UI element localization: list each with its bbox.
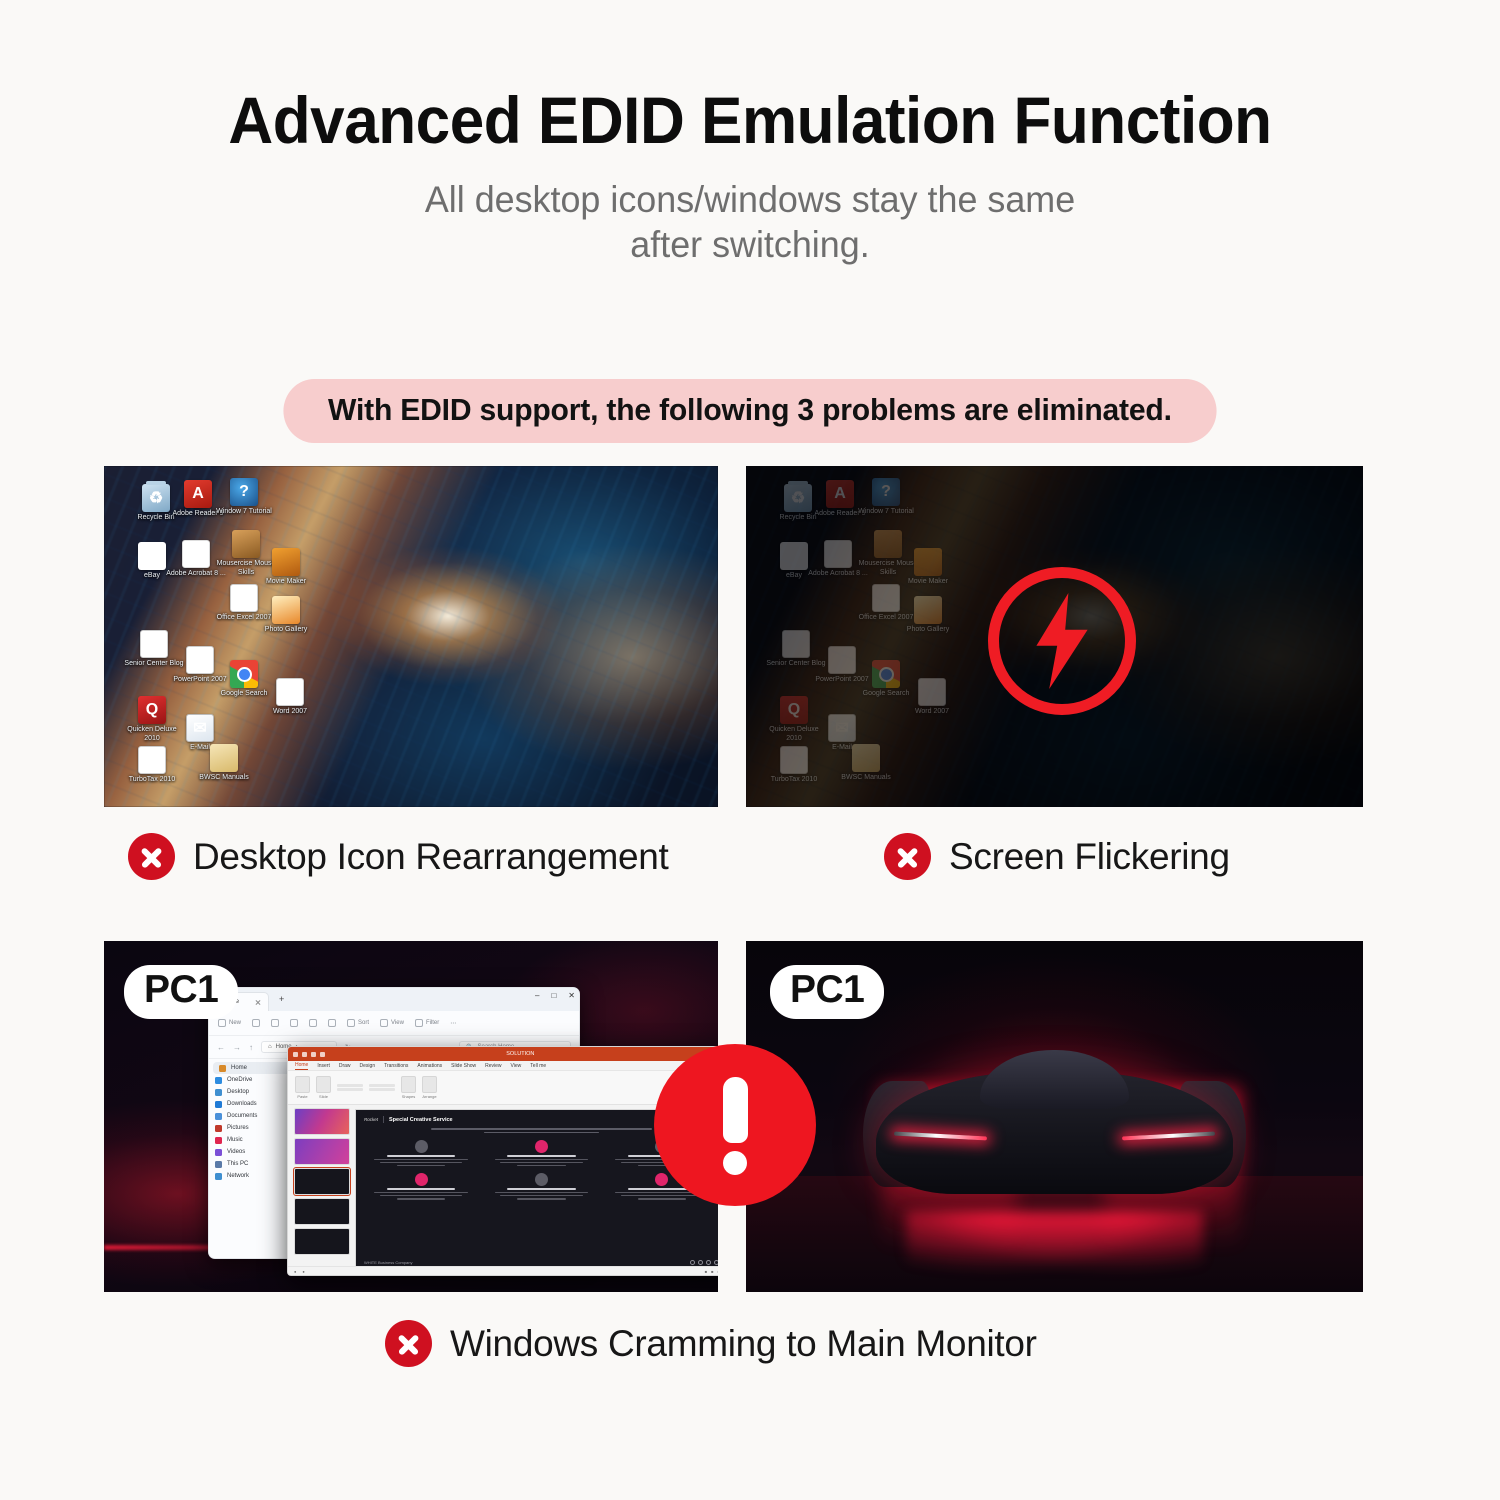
caption-screen-flickering: Screen Flickering bbox=[884, 833, 1230, 880]
page-subtitle: All desktop icons/windows stay the same … bbox=[23, 177, 1478, 267]
delete-icon[interactable] bbox=[328, 1019, 336, 1027]
banner-row: With EDID support, the following 3 probl… bbox=[0, 379, 1500, 443]
ppt-tab-draw[interactable]: Draw bbox=[339, 1063, 351, 1069]
desktop-icon[interactable]: ?Window 7 Tutorial bbox=[214, 478, 274, 517]
ebay-icon: eb bbox=[138, 542, 166, 570]
x-circle-icon bbox=[884, 833, 931, 880]
adobe-acrobat-icon: A bbox=[824, 540, 852, 568]
forward-icon[interactable]: → bbox=[233, 1043, 241, 1052]
pc1-badge: PC1 bbox=[770, 965, 884, 1019]
new-tab-button[interactable]: + bbox=[279, 994, 284, 1006]
twitter-icon bbox=[698, 1260, 703, 1265]
folder-icon bbox=[215, 1137, 222, 1144]
feature-text bbox=[397, 1198, 445, 1199]
folder-icon bbox=[215, 1101, 222, 1108]
help-icon: ? bbox=[230, 478, 258, 506]
filter-icon bbox=[415, 1019, 423, 1027]
desktop-icon[interactable]: Movie Maker bbox=[256, 548, 316, 587]
caption-label: Desktop Icon Rearrangement bbox=[193, 836, 669, 878]
ribbon-label: Slide bbox=[319, 1094, 328, 1099]
desktop-icon[interactable]: Photo Gallery bbox=[898, 596, 958, 635]
panel-windows-cramming: PC1 Home + – □ ✕ New bbox=[104, 941, 718, 1292]
mail-icon: ✉ bbox=[828, 714, 856, 742]
paragraph-row bbox=[369, 1084, 395, 1087]
slide-footer: WHITE Business Company bbox=[364, 1260, 412, 1265]
desktop-icon[interactable]: ?Window 7 Tutorial bbox=[856, 478, 916, 517]
movie-maker-icon bbox=[272, 548, 300, 576]
desktop-icon[interactable]: ✔TurboTax 2010 bbox=[122, 746, 182, 785]
ppt-ribbon-tabs: HomeInsertDrawDesignTransitionsAnimation… bbox=[288, 1061, 718, 1071]
feature-text bbox=[500, 1162, 582, 1163]
shapes-icon bbox=[401, 1076, 416, 1093]
close-icon[interactable]: ✕ bbox=[568, 991, 575, 1000]
copy-icon[interactable] bbox=[271, 1019, 279, 1027]
facebook-icon bbox=[690, 1260, 695, 1265]
ebay-icon: eb bbox=[780, 542, 808, 570]
up-icon[interactable]: ↑ bbox=[249, 1043, 253, 1052]
photo-gallery-icon bbox=[272, 596, 300, 624]
page-title: Advanced EDID Emulation Function bbox=[45, 86, 1455, 155]
feature-icon bbox=[535, 1173, 548, 1186]
sidebar-item-label: Downloads bbox=[227, 1101, 257, 1107]
sidebar-item-label: Desktop bbox=[227, 1089, 249, 1095]
movie-maker-icon bbox=[914, 548, 942, 576]
excel-icon: X bbox=[872, 584, 900, 612]
folder-icon bbox=[215, 1089, 222, 1096]
feature-text bbox=[517, 1198, 565, 1199]
photo-gallery-icon bbox=[914, 596, 942, 624]
caption-windows-cramming: Windows Cramming to Main Monitor bbox=[385, 1320, 1037, 1367]
adobe-acrobat-icon: A bbox=[182, 540, 210, 568]
desktop-icon-label: Word 2007 bbox=[260, 708, 320, 717]
home-icon: ⌂ bbox=[268, 1044, 272, 1050]
desktop-icon[interactable]: Movie Maker bbox=[898, 548, 958, 587]
exclamation-dot bbox=[723, 1151, 747, 1175]
chrome-icon bbox=[872, 660, 900, 688]
folder-icon bbox=[215, 1149, 222, 1156]
blog-icon: B bbox=[782, 630, 810, 658]
quicken-icon: Q bbox=[138, 696, 166, 724]
feature-text bbox=[380, 1195, 462, 1196]
header: Advanced EDID Emulation Function All des… bbox=[0, 86, 1500, 268]
sort-button[interactable]: Sort bbox=[347, 1019, 369, 1027]
feature-text bbox=[621, 1195, 703, 1196]
desktop-icon-label: TurboTax 2010 bbox=[122, 776, 182, 785]
view-controls: ■ ■ ■ ▬ bbox=[705, 1269, 718, 1274]
undo-icon[interactable] bbox=[311, 1052, 316, 1057]
new-button[interactable]: New bbox=[218, 1019, 241, 1027]
desktop-icon[interactable]: BWSC Manuals bbox=[836, 744, 896, 783]
exclamation-icon bbox=[654, 1044, 816, 1206]
slide-thumbnail[interactable] bbox=[294, 1108, 350, 1135]
text-line bbox=[484, 1132, 598, 1134]
slide-thumbnail[interactable] bbox=[294, 1138, 350, 1165]
sidebar-item-label: This PC bbox=[227, 1161, 248, 1167]
window-controls: – □ ✕ bbox=[535, 991, 575, 1000]
pc1-badge: PC1 bbox=[124, 965, 238, 1019]
powerpoint-icon: P bbox=[186, 646, 214, 674]
slide-title: Special Creative Service bbox=[389, 1117, 453, 1123]
desktop-icon[interactable]: BWSC Manuals bbox=[194, 744, 254, 783]
folder-icon bbox=[219, 1065, 226, 1072]
paste-icon[interactable] bbox=[290, 1019, 298, 1027]
sidebar-item-label: Pictures bbox=[227, 1125, 249, 1131]
feature-text bbox=[380, 1162, 462, 1163]
folder-icon bbox=[215, 1113, 222, 1120]
desktop-icon-label: BWSC Manuals bbox=[194, 774, 254, 783]
feature-title bbox=[387, 1188, 456, 1190]
folder-icon bbox=[215, 1161, 222, 1168]
cut-icon[interactable] bbox=[252, 1019, 260, 1027]
infographic-page: Advanced EDID Emulation Function All des… bbox=[0, 0, 1500, 1500]
ppt-document-title: SOLUTION bbox=[506, 1051, 534, 1057]
sort-icon bbox=[347, 1019, 355, 1027]
ppt-tab-slide-show[interactable]: Slide Show bbox=[451, 1063, 476, 1069]
subtitle-line-1: All desktop icons/windows stay the same bbox=[23, 177, 1478, 222]
slide-feature-cell bbox=[364, 1173, 478, 1199]
folder-icon bbox=[215, 1125, 222, 1132]
feature-text bbox=[495, 1192, 589, 1193]
recycle-bin-icon: ♻ bbox=[142, 484, 170, 512]
ppt-tab-design[interactable]: Design bbox=[360, 1063, 376, 1069]
slide-social-icons bbox=[690, 1260, 718, 1265]
word-icon: W bbox=[276, 678, 304, 706]
redo-icon[interactable] bbox=[320, 1052, 325, 1057]
ppt-status-bar: ● ● ■ ■ ■ ▬ bbox=[288, 1266, 718, 1275]
paragraph-row bbox=[369, 1088, 395, 1091]
slide-logo: Rocket bbox=[364, 1117, 378, 1122]
ribbon-slide-group[interactable]: Slide bbox=[316, 1076, 331, 1100]
x-circle-icon bbox=[385, 1320, 432, 1367]
caption-label: Screen Flickering bbox=[949, 836, 1230, 878]
sidebar-item-label: Documents bbox=[227, 1113, 257, 1119]
ppt-title-bar: SOLUTION – ✕ bbox=[288, 1047, 718, 1061]
desktop-icon[interactable]: WWord 2007 bbox=[260, 678, 320, 717]
feature-text bbox=[397, 1165, 445, 1166]
ppt-tab-animations[interactable]: Animations bbox=[417, 1063, 442, 1069]
normal-view-icon[interactable]: ■ bbox=[705, 1269, 707, 1274]
font-box bbox=[337, 1084, 363, 1087]
panel-car-display: PC1 bbox=[746, 941, 1363, 1292]
feature-title bbox=[507, 1155, 576, 1157]
explorer-tab-bar: Home + – □ ✕ bbox=[209, 988, 579, 1011]
ribbon-label: Shapes bbox=[402, 1094, 416, 1099]
edid-support-banner: With EDID support, the following 3 probl… bbox=[284, 379, 1217, 443]
rename-icon[interactable] bbox=[309, 1019, 317, 1027]
quicken-icon: Q bbox=[780, 696, 808, 724]
plus-icon bbox=[218, 1019, 226, 1027]
feature-text bbox=[517, 1165, 565, 1166]
close-icon[interactable] bbox=[255, 999, 261, 1005]
feature-text bbox=[374, 1159, 468, 1160]
feature-icon bbox=[655, 1173, 668, 1186]
floor-reflection bbox=[906, 1211, 1202, 1281]
ppt-ribbon: Paste Slide Shapes Arrange Design Ideas bbox=[288, 1071, 718, 1105]
lightning-bolt-icon bbox=[988, 567, 1136, 715]
desktop-icon[interactable]: Photo Gallery bbox=[256, 596, 316, 635]
chrome-icon bbox=[230, 660, 258, 688]
exclamation-bar bbox=[723, 1077, 748, 1143]
sidebar-item-label: OneDrive bbox=[227, 1077, 252, 1083]
slide-feature-cell bbox=[364, 1140, 478, 1166]
arrange-icon bbox=[422, 1076, 437, 1093]
ribbon-paragraph-group[interactable] bbox=[369, 1084, 395, 1091]
text-line bbox=[431, 1128, 651, 1130]
filter-button[interactable]: Filter bbox=[415, 1019, 439, 1027]
folder-icon bbox=[215, 1173, 222, 1180]
desktop-icon-label: Photo Gallery bbox=[898, 626, 958, 635]
instagram-icon bbox=[706, 1260, 711, 1265]
explorer-toolbar: New Sort View Filter ⋯ bbox=[209, 1011, 579, 1036]
slide-thumbnail[interactable] bbox=[294, 1228, 350, 1255]
feature-text bbox=[638, 1198, 686, 1199]
panel-screen-flickering: ♻Recycle BinAAdobe Reader 9?Window 7 Tut… bbox=[746, 466, 1363, 807]
powerpoint-icon: P bbox=[828, 646, 856, 674]
mail-icon: ✉ bbox=[186, 714, 214, 742]
ribbon-paste-group[interactable]: Paste bbox=[295, 1076, 310, 1100]
divider bbox=[383, 1116, 384, 1123]
sidebar-item-label: Videos bbox=[227, 1149, 245, 1155]
sorter-view-icon[interactable]: ■ bbox=[711, 1269, 713, 1274]
sidebar-item-label: Music bbox=[227, 1137, 243, 1143]
desktop-icon[interactable]: ✔TurboTax 2010 bbox=[764, 746, 824, 785]
word-icon: W bbox=[918, 678, 946, 706]
new-slide-icon bbox=[316, 1076, 331, 1093]
ribbon-label: Paste bbox=[297, 1094, 307, 1099]
view-icon bbox=[380, 1019, 388, 1027]
slide-thumbnail[interactable] bbox=[294, 1198, 350, 1225]
excel-icon: X bbox=[230, 584, 258, 612]
font-size-box bbox=[337, 1088, 363, 1091]
ppt-tab-review[interactable]: Review bbox=[485, 1063, 501, 1069]
turbotax-icon: ✔ bbox=[138, 746, 166, 774]
desktop-icon-label: Window 7 Tutorial bbox=[214, 508, 274, 517]
notes-button[interactable]: ● bbox=[302, 1269, 304, 1274]
sidebar-item-label: Network bbox=[227, 1173, 249, 1179]
desktop-icon-label: Window 7 Tutorial bbox=[856, 508, 916, 517]
caption-label: Windows Cramming to Main Monitor bbox=[450, 1323, 1037, 1365]
ppt-tab-transitions[interactable]: Transitions bbox=[384, 1063, 408, 1069]
caption-desktop-icon-rearrangement: Desktop Icon Rearrangement bbox=[128, 833, 669, 880]
turbotax-icon: ✔ bbox=[780, 746, 808, 774]
slide-number: ● bbox=[294, 1269, 296, 1274]
panel-desktop-icons: ♻Recycle BinAAdobe Reader 9?Window 7 Tut… bbox=[104, 466, 718, 807]
feature-text bbox=[500, 1195, 582, 1196]
desktop-icon-label: Word 2007 bbox=[902, 708, 962, 717]
help-icon: ? bbox=[872, 478, 900, 506]
save-icon[interactable] bbox=[302, 1052, 307, 1057]
sidebar-item-label: Home bbox=[231, 1065, 247, 1071]
more-options-icon[interactable]: ⋯ bbox=[450, 1020, 456, 1027]
ppt-tab-tell-me[interactable]: Tell me bbox=[530, 1063, 546, 1069]
x-circle-icon bbox=[128, 833, 175, 880]
adobe-reader-icon: A bbox=[826, 480, 854, 508]
slide-feature-cell bbox=[484, 1173, 598, 1199]
manuals-icon bbox=[852, 744, 880, 772]
folder-icon bbox=[215, 1077, 222, 1084]
feature-icon bbox=[415, 1173, 428, 1186]
desktop-icons-layer: ♻Recycle BinAAdobe Reader 9?Window 7 Tut… bbox=[104, 466, 718, 807]
feature-icon bbox=[415, 1140, 428, 1153]
feature-text bbox=[374, 1192, 468, 1193]
slide-thumbnail[interactable] bbox=[294, 1168, 350, 1195]
back-icon[interactable]: ← bbox=[217, 1043, 225, 1052]
desktop-icon-label: Photo Gallery bbox=[256, 626, 316, 635]
ppt-tab-insert[interactable]: Insert bbox=[317, 1063, 330, 1069]
ribbon-font-group[interactable] bbox=[337, 1084, 363, 1091]
feature-icon bbox=[535, 1140, 548, 1153]
minimize-icon[interactable]: – bbox=[535, 991, 539, 1000]
feature-title bbox=[387, 1155, 456, 1157]
view-button[interactable]: View bbox=[380, 1019, 404, 1027]
linkedin-icon bbox=[714, 1260, 718, 1265]
powerpoint-window[interactable]: SOLUTION – ✕ HomeInsertDrawDesignTransit… bbox=[287, 1046, 718, 1276]
feature-title bbox=[507, 1188, 576, 1190]
slide-subtitle bbox=[431, 1128, 651, 1133]
desktop-icon-label: TurboTax 2010 bbox=[764, 776, 824, 785]
ribbon-label: Arrange bbox=[422, 1094, 436, 1099]
ribbon-shapes-group[interactable]: Shapes bbox=[401, 1076, 416, 1100]
manuals-icon bbox=[210, 744, 238, 772]
adobe-reader-icon: A bbox=[184, 480, 212, 508]
recycle-bin-icon: ♻ bbox=[784, 484, 812, 512]
autosave-icon[interactable] bbox=[293, 1052, 298, 1057]
feature-text bbox=[495, 1159, 589, 1160]
paste-icon bbox=[295, 1076, 310, 1093]
car-canopy bbox=[980, 1050, 1128, 1110]
maximize-icon[interactable]: □ bbox=[551, 991, 556, 1000]
desktop-icon-label: BWSC Manuals bbox=[836, 774, 896, 783]
ppt-tab-view[interactable]: View bbox=[511, 1063, 522, 1069]
subtitle-line-2: after switching. bbox=[23, 222, 1478, 267]
desktop-icon[interactable]: WWord 2007 bbox=[902, 678, 962, 717]
blog-icon: B bbox=[140, 630, 168, 658]
slide-thumbnail-panel bbox=[288, 1105, 353, 1275]
ppt-tab-home[interactable]: Home bbox=[295, 1062, 308, 1070]
slide-feature-cell bbox=[484, 1140, 598, 1166]
ribbon-arrange-group[interactable]: Arrange bbox=[422, 1076, 437, 1100]
quick-access-toolbar bbox=[293, 1052, 325, 1057]
